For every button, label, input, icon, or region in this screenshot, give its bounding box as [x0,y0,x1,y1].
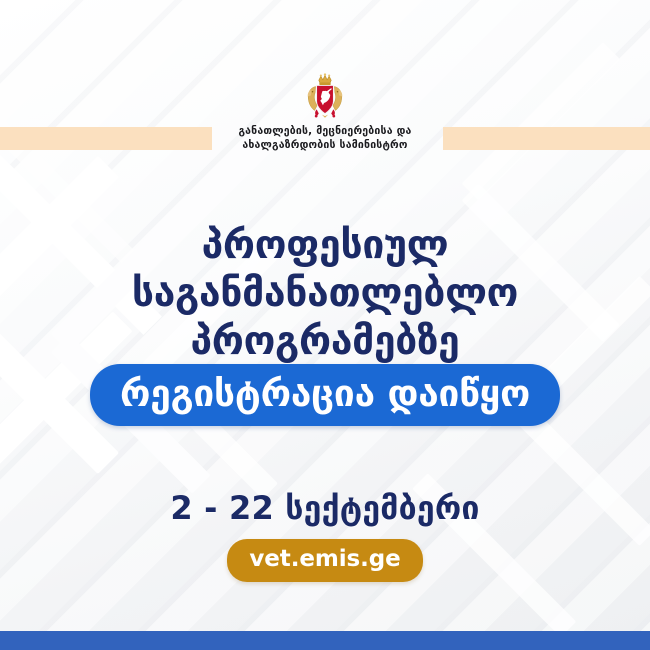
headline: პროფესიულ საგანმანათლებლო პროგრამებზე [0,222,650,366]
headline-line-1: პროფესიულ [0,222,650,270]
ministry-line-1: განათლების, მეცნიერებისა და [0,124,650,138]
footer-accent-bar [0,631,650,650]
website-badge-container: vet.emis.ge [0,539,650,582]
georgia-coat-of-arms-icon [299,73,351,125]
website-url-badge[interactable]: vet.emis.ge [227,539,422,582]
registration-date-range: 2 - 22 სექტემბერი [0,489,650,527]
registration-banner-container: რეგისტრაცია დაიწყო [0,364,650,426]
ministry-line-2: ახალგაზრდობის სამინისტრო [0,138,650,152]
registration-open-badge: რეგისტრაცია დაიწყო [90,364,560,426]
headline-line-2: საგანმანათლებლო [0,270,650,318]
headline-line-3: პროგრამებზე [0,318,650,366]
poster-canvas: განათლების, მეცნიერებისა და ახალგაზრდობი… [0,0,650,650]
ministry-name: განათლების, მეცნიერებისა და ახალგაზრდობი… [0,124,650,152]
emblem-container [0,73,650,129]
